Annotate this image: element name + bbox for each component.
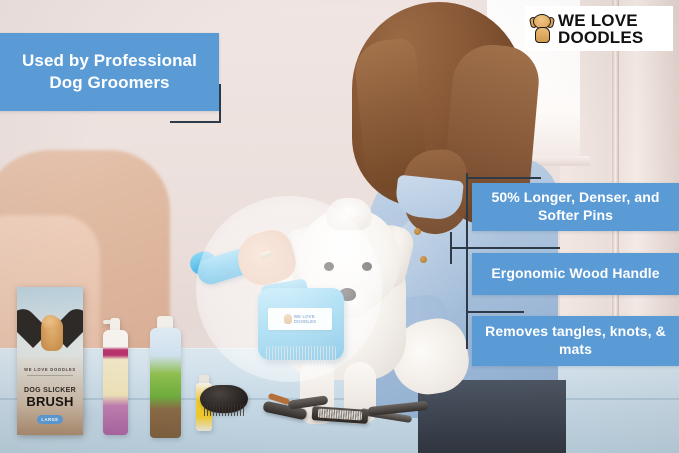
leader-line-callout-3: [466, 311, 524, 313]
product-marketing-image: WE LOVE DOODLES WE LOVE DOODLES DOG SLIC…: [0, 0, 679, 453]
brand-logo: WE LOVE DOODLES: [525, 6, 673, 51]
shampoo-bottle: [150, 328, 181, 438]
dog-eye-right: [362, 262, 372, 271]
product-box-divider: [27, 375, 73, 376]
brush-pins: [266, 346, 336, 364]
dog-topknot: [326, 198, 372, 230]
callout-longer-denser-softer-pins: 50% Longer, Denser, and Softer Pins: [472, 183, 679, 231]
brush-label-text: WE LOVE DOODLES: [294, 314, 316, 324]
shirt-button-top: [414, 228, 421, 235]
product-box-line1: DOG SLICKER: [17, 387, 83, 394]
brand-logo-line1: WE LOVE: [558, 12, 643, 29]
doodle-dog-icon: [530, 14, 554, 44]
brush-product-label: WE LOVE DOODLES: [268, 308, 332, 330]
leader-line-callout-1: [466, 177, 541, 179]
brand-logo-line2: DOODLES: [558, 29, 643, 46]
table-seam-line: [0, 398, 679, 400]
leader-line-vertical-right: [466, 173, 468, 349]
callout-used-by-professional-dog-groomers: Used by Professional Dog Groomers: [0, 33, 219, 111]
brand-logo-text: WE LOVE DOODLES: [558, 12, 643, 46]
leader-line-vertical-left: [219, 84, 221, 123]
callout-removes-tangles-knots-mats: Removes tangles, knots, & mats: [472, 316, 679, 366]
callout-ergonomic-wood-handle: Ergonomic Wood Handle: [472, 253, 679, 295]
product-packaging-box: WE LOVE DOODLES DOG SLICKER BRUSH LARGE: [17, 287, 83, 435]
leader-line-callout-2: [450, 247, 560, 249]
dog-eye-left: [324, 262, 334, 271]
puppy-head-illustration: [42, 315, 59, 330]
product-size-badge: LARGE: [37, 415, 63, 424]
doodle-dog-body: [535, 27, 550, 43]
product-box-brand: WE LOVE DOODLES: [17, 367, 83, 372]
shirt-button-middle: [420, 256, 427, 263]
brush-label-line2: DOODLES: [294, 319, 316, 324]
spray-bottle: [103, 330, 128, 435]
product-box-line2: BRUSH: [17, 395, 83, 408]
round-brush-bristles: [204, 404, 244, 416]
brush-label-dog-icon: [284, 314, 292, 324]
leader-line-horizontal-left: [170, 121, 221, 123]
